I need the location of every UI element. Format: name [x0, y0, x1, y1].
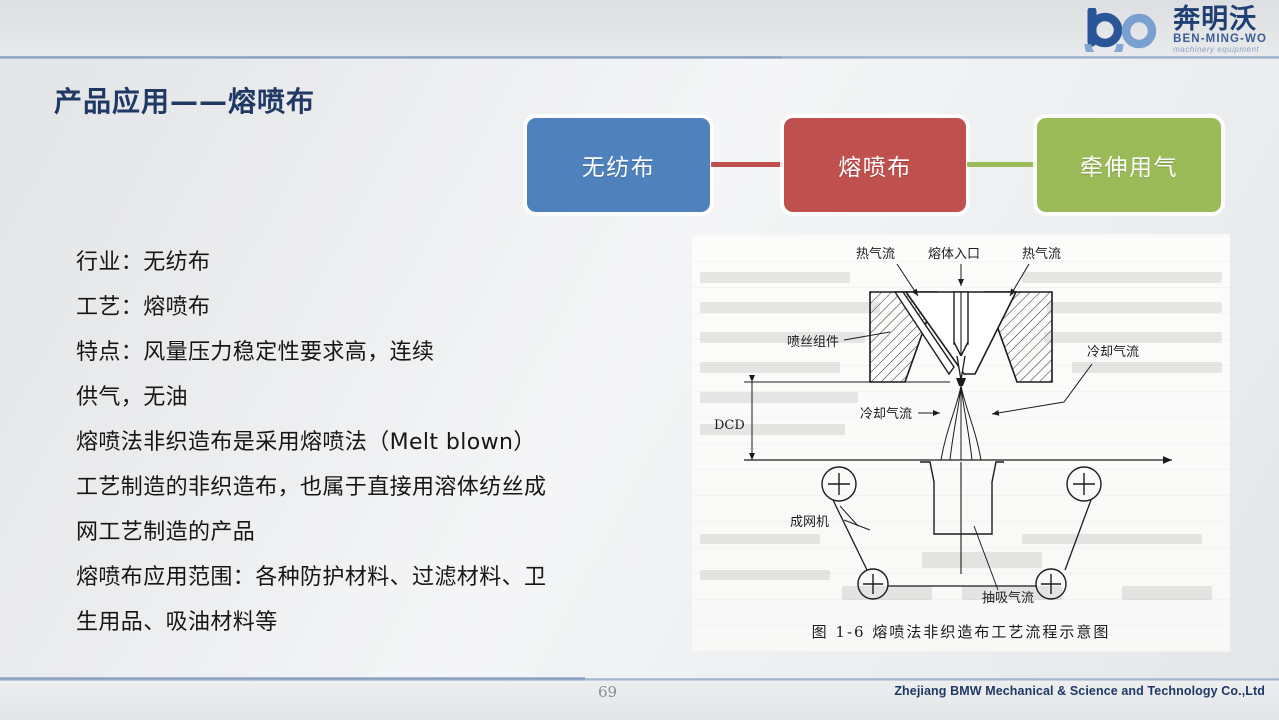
company-logo: 奔明沃 BEN-MING-WO machinery equipment — [1049, 4, 1267, 56]
label-spinneret: 喷丝组件 — [787, 335, 839, 350]
label-dcd: DCD — [714, 418, 745, 433]
header-divider-segment — [0, 56, 782, 59]
label-melt-inlet: 熔体入口 — [928, 247, 980, 262]
page-number: 69 — [598, 683, 617, 701]
logo-tagline: machinery equipment — [1173, 46, 1267, 54]
label-cooling-air-right: 冷却气流 — [1087, 344, 1139, 360]
company-name: Zhejiang BMW Mechanical & Science and Te… — [894, 684, 1265, 698]
body-line: 工艺：熔喷布 — [76, 285, 676, 330]
body-line: 熔喷法非织造布是采用熔喷法（Melt blown） — [76, 420, 676, 465]
flow-connector-1 — [711, 162, 783, 167]
bo-monogram-icon — [1082, 8, 1170, 52]
flow-box-nonwoven[interactable]: 无纺布 — [527, 118, 710, 212]
flow-box-label: 无纺布 — [582, 148, 656, 182]
flow-box-drawing-air[interactable]: 牵伸用气 — [1037, 118, 1221, 212]
body-line: 工艺制造的非织造布，也属于直接用溶体纺丝成 — [76, 465, 676, 510]
figure-caption: 图 1-6 熔喷法非织造布工艺流程示意图 — [692, 621, 1230, 642]
body-line: 生用品、吸油材料等 — [76, 600, 676, 645]
body-text-block: 行业：无纺布 工艺：熔喷布 特点：风量压力稳定性要求高，连续 供气，无油 熔喷法… — [76, 240, 676, 645]
body-line: 特点：风量压力稳定性要求高，连续 — [76, 330, 676, 375]
process-figure-drawing: 热气流 熔体入口 热气流 喷丝组件 冷却气流 冷却气流 DCD — [692, 234, 1230, 652]
flow-box-label: 牵伸用气 — [1080, 148, 1178, 182]
label-suction-air: 抽吸气流 — [982, 590, 1034, 606]
label-web-former: 成网机 — [790, 515, 829, 530]
body-line: 行业：无纺布 — [76, 240, 676, 285]
flow-box-label: 熔喷布 — [838, 148, 912, 182]
flow-box-meltblown[interactable]: 熔喷布 — [784, 118, 966, 212]
process-flow: 无纺布 熔喷布 牵伸用气 — [0, 118, 1279, 218]
label-hot-air-left: 热气流 — [856, 246, 895, 262]
footer-divider-segment — [0, 677, 585, 681]
body-line: 供气，无油 — [76, 375, 676, 420]
logo-chinese-name: 奔明沃 — [1173, 6, 1267, 33]
logo-wordmark: 奔明沃 BEN-MING-WO machinery equipment — [1173, 6, 1267, 55]
body-line: 网工艺制造的产品 — [76, 510, 676, 555]
body-line: 熔喷布应用范围：各种防护材料、过滤材料、卫 — [76, 555, 676, 600]
meltblown-process-figure: 热气流 熔体入口 热气流 喷丝组件 冷却气流 冷却气流 DCD — [692, 234, 1230, 652]
page-title: 产品应用——熔喷布 — [54, 80, 315, 120]
logo-latin-name: BEN-MING-WO — [1173, 34, 1267, 46]
label-hot-air-right: 热气流 — [1022, 246, 1061, 262]
flow-connector-2 — [967, 162, 1036, 167]
label-cooling-air-center: 冷却气流 — [860, 406, 912, 422]
